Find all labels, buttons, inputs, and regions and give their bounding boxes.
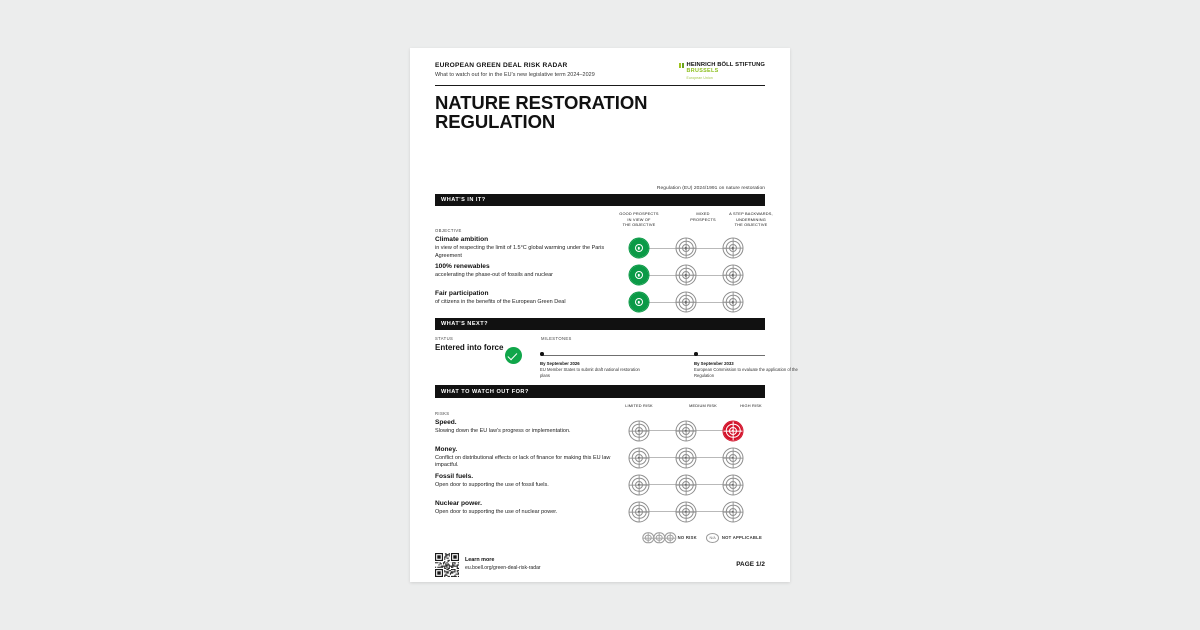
risk-column-headers: LIMITED RISK MEDIUM RISK HIGH RISK [435, 403, 765, 411]
row-markers [611, 475, 761, 495]
row-markers [611, 265, 761, 285]
column-header-high-risk: HIGH RISK [723, 403, 779, 409]
row-text: Climate ambitionin view of respecting th… [435, 236, 620, 260]
matrix-row: Fair participationof citizens in the ben… [435, 290, 765, 314]
page-title: NATURE RESTORATION REGULATION [435, 93, 765, 131]
milestones-label: MILESTONES [541, 336, 572, 341]
screenshot-stage: EUROPEAN GREEN DEAL RISK RADAR What to w… [0, 0, 1200, 630]
section-bar-watch-out: WHAT TO WATCH OUT FOR? [435, 385, 765, 397]
row-title: Nuclear power. [435, 500, 620, 509]
row-text: Money.Conflict on distributional effects… [435, 446, 620, 470]
radar-marker-empty[interactable] [723, 265, 743, 285]
legend-not-applicable-label: NOT APPLICABLE [722, 535, 762, 540]
radar-marker-empty[interactable] [676, 502, 696, 522]
legend: NO RISK N/A NOT APPLICABLE [435, 533, 765, 543]
row-text: Speed.Slowing down the EU law's progress… [435, 419, 620, 436]
header-titles: EUROPEAN GREEN DEAL RISK RADAR What to w… [435, 62, 595, 79]
row-title: Fossil fuels. [435, 473, 620, 482]
radar-marker-empty[interactable] [629, 502, 649, 522]
radar-marker-green[interactable] [629, 265, 649, 285]
radar-marker-empty[interactable] [676, 265, 696, 285]
legend-no-risk-label: NO RISK [678, 535, 697, 540]
radar-marker-green[interactable] [629, 238, 649, 258]
row-body: Open door to supporting the use of nucle… [435, 509, 620, 516]
column-header-limited-risk: LIMITED RISK [611, 403, 667, 409]
matrix-row: Climate ambitionin view of respecting th… [435, 236, 765, 260]
logo-bars-icon [679, 63, 684, 69]
column-header-good-prospects: GOOD PROSPECTS IN VIEW OF THE OBJECTIVE [611, 211, 667, 228]
status-value: Entered into force [435, 344, 765, 353]
milestone-text: European Commission to evaluate the appl… [694, 367, 799, 379]
not-applicable-icon: N/A [706, 533, 720, 543]
milestone-date: By September 2026 [540, 361, 645, 367]
objective-column-headers: GOOD PROSPECTS IN VIEW OF THE OBJECTIVE … [435, 211, 765, 228]
radar-marker-empty[interactable] [723, 238, 743, 258]
row-body: in view of respecting the limit of 1.5°C… [435, 245, 620, 260]
page-footer: Learn more eu.boell.org/green-deal-risk-… [435, 553, 765, 577]
matrix-row: Fossil fuels.Open door to supporting the… [435, 473, 765, 497]
page-header: EUROPEAN GREEN DEAL RISK RADAR What to w… [435, 62, 765, 80]
logo-office: BRUSSELS [687, 68, 765, 75]
radar-marker-green[interactable] [629, 292, 649, 312]
radar-marker-empty[interactable] [676, 448, 696, 468]
row-text: Fossil fuels.Open door to supporting the… [435, 473, 620, 490]
status-label: STATUS [435, 336, 765, 341]
milestone-item: By September 2026 EU Member States to su… [540, 361, 645, 379]
milestone-date: By September 2033 [694, 361, 799, 367]
radar-marker-empty[interactable] [676, 238, 696, 258]
milestone-node [540, 352, 544, 356]
matrix-row: Money.Conflict on distributional effects… [435, 446, 765, 470]
section-bar-whats-in-it: WHAT'S IN IT? [435, 194, 765, 206]
radar-marker-empty[interactable] [629, 448, 649, 468]
row-title: Speed. [435, 419, 620, 428]
row-markers [611, 502, 761, 522]
milestone-item: By September 2033 European Commission to… [694, 361, 799, 379]
row-markers [611, 448, 761, 468]
radar-marker-empty[interactable] [723, 475, 743, 495]
qr-code-icon[interactable] [435, 553, 459, 577]
heinrich-boll-stiftung-logo: HEINRICH BÖLL STIFTUNG BRUSSELS European… [679, 62, 765, 80]
legend-not-applicable: N/A NOT APPLICABLE [706, 533, 762, 543]
logo-region: European Union [687, 76, 765, 80]
section-bar-whats-next: WHAT'S NEXT? [435, 318, 765, 330]
learn-more-block: Learn more eu.boell.org/green-deal-risk-… [435, 553, 541, 577]
radar-marker-empty[interactable] [629, 475, 649, 495]
objective-row-label: OBJECTIVE [435, 228, 765, 233]
header-divider [435, 85, 765, 86]
row-body: Conflict on distributional effects or la… [435, 455, 620, 470]
poster-page: EUROPEAN GREEN DEAL RISK RADAR What to w… [410, 48, 790, 582]
objective-rows: Climate ambitionin view of respecting th… [435, 236, 765, 314]
radar-marker-empty[interactable] [723, 292, 743, 312]
matrix-row: Nuclear power.Open door to supporting th… [435, 500, 765, 524]
regulation-citation: Regulation (EU) 2024/1991 on nature rest… [435, 186, 765, 191]
legend-no-risk: NO RISK [643, 533, 697, 543]
radar-marker-red[interactable] [723, 421, 743, 441]
milestone-timeline-line [541, 355, 765, 356]
row-body: Open door to supporting the use of fossi… [435, 482, 620, 489]
learn-more-heading: Learn more [465, 557, 541, 564]
column-header-step-backwards: A STEP BACKWARDS, UNDERMINING THE OBJECT… [723, 211, 779, 228]
radar-marker-empty[interactable] [676, 421, 696, 441]
kicker-subtitle: What to watch out for in the EU's new le… [435, 72, 595, 79]
radar-marker-empty[interactable] [629, 421, 649, 441]
risk-rows: Speed.Slowing down the EU law's progress… [435, 419, 765, 524]
radar-marker-empty[interactable] [723, 448, 743, 468]
no-risk-icon [643, 533, 675, 543]
radar-marker-empty[interactable] [676, 292, 696, 312]
row-markers [611, 292, 761, 312]
matrix-row: Speed.Slowing down the EU law's progress… [435, 419, 765, 443]
milestone-text: EU Member States to submit draft nationa… [540, 367, 645, 379]
radar-marker-empty[interactable] [676, 475, 696, 495]
row-body: Slowing down the EU law's progress or im… [435, 428, 620, 435]
row-title: Fair participation [435, 290, 620, 299]
kicker-text: EUROPEAN GREEN DEAL RISK RADAR [435, 62, 595, 70]
row-body: of citizens in the benefits of the Europ… [435, 299, 620, 306]
risks-row-label: RISKS [435, 411, 765, 416]
row-title: Money. [435, 446, 620, 455]
row-markers [611, 421, 761, 441]
row-text: Nuclear power.Open door to supporting th… [435, 500, 620, 517]
matrix-row: 100% renewablesaccelerating the phase-ou… [435, 263, 765, 287]
status-check-icon [505, 347, 522, 364]
row-text: Fair participationof citizens in the ben… [435, 290, 620, 307]
row-text: 100% renewablesaccelerating the phase-ou… [435, 263, 620, 280]
row-title: 100% renewables [435, 263, 620, 272]
page-number: PAGE 1/2 [736, 561, 765, 568]
row-markers [611, 238, 761, 258]
learn-more-url[interactable]: eu.boell.org/green-deal-risk-radar [465, 565, 541, 572]
whats-next-body: STATUS Entered into force MILESTONES By … [435, 336, 765, 382]
row-body: accelerating the phase-out of fossils an… [435, 272, 620, 279]
row-title: Climate ambition [435, 236, 620, 245]
radar-marker-empty[interactable] [723, 502, 743, 522]
milestone-node [694, 352, 698, 356]
